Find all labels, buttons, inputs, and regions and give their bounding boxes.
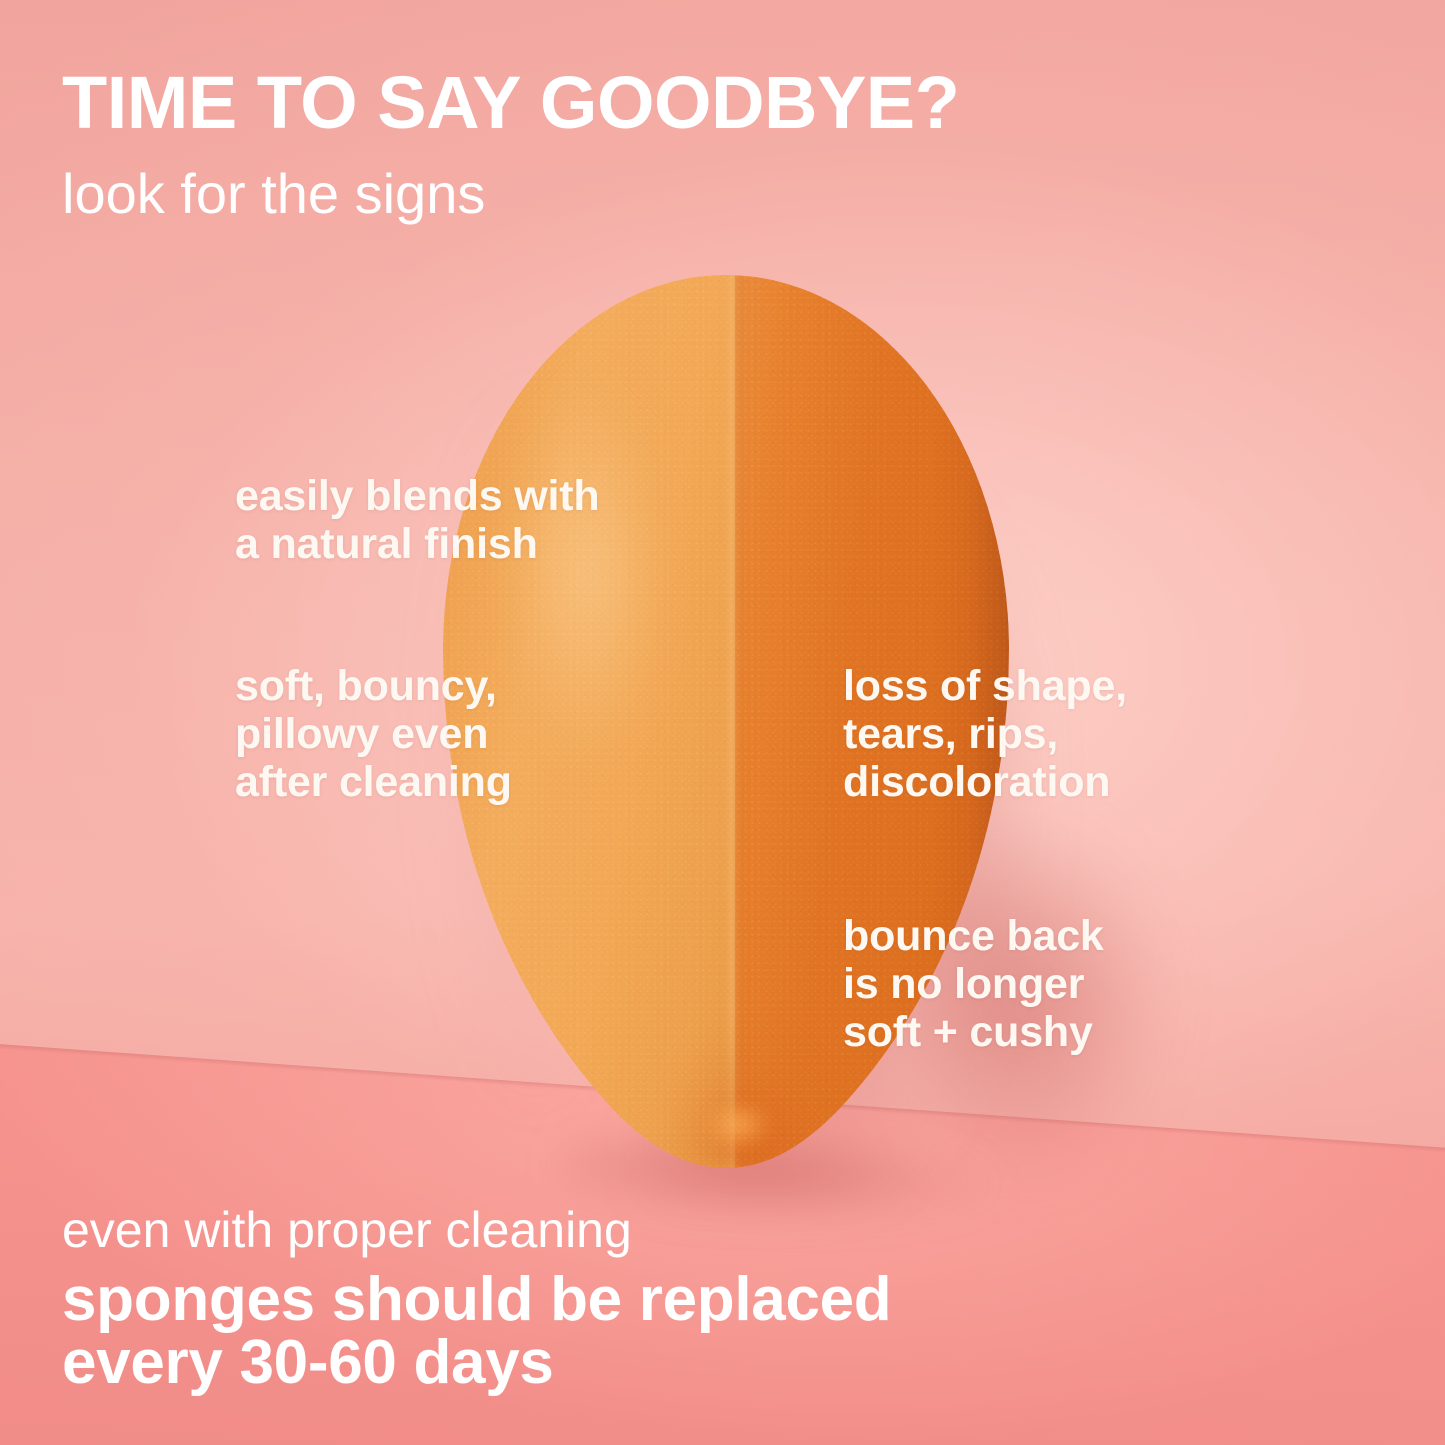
page-title: TIME TO SAY GOODBYE? [62, 66, 959, 139]
footer-replacement-advice: sponges should be replaced every 30-60 d… [62, 1268, 891, 1394]
callout-bad-shape-loss: loss of shape, tears, rips, discoloratio… [843, 662, 1127, 806]
page-subtitle: look for the signs [62, 166, 485, 222]
callout-bad-no-bounce: bounce back is no longer soft + cushy [843, 912, 1104, 1056]
infographic-canvas: TIME TO SAY GOODBYE? look for the signs … [0, 0, 1445, 1445]
callout-good-soft: soft, bouncy, pillowy even after cleanin… [235, 662, 512, 806]
callout-good-blends: easily blends with a natural finish [235, 472, 599, 568]
footer-caption: even with proper cleaning [62, 1205, 632, 1255]
